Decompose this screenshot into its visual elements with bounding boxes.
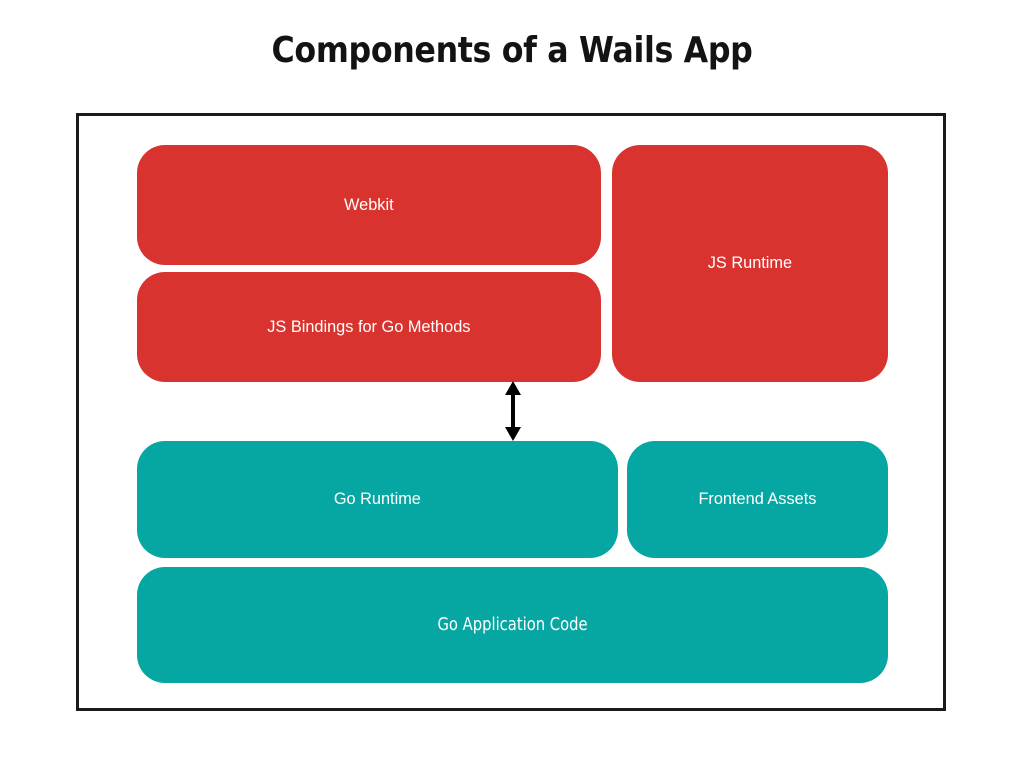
block-frontend-assets[interactable]: Frontend Assets bbox=[627, 441, 888, 558]
double-arrow-icon bbox=[499, 381, 527, 441]
double-arrow-svg bbox=[499, 381, 527, 441]
block-webkit[interactable]: Webkit bbox=[137, 145, 601, 265]
block-frontend-assets-label: Frontend Assets bbox=[699, 489, 817, 509]
block-go-runtime[interactable]: Go Runtime bbox=[137, 441, 618, 558]
block-go-runtime-label: Go Runtime bbox=[334, 489, 421, 509]
block-go-application-code-label: Go Application Code bbox=[437, 614, 587, 636]
block-js-bindings[interactable]: JS Bindings for Go Methods bbox=[137, 272, 601, 382]
block-webkit-label: Webkit bbox=[344, 195, 394, 215]
page-title: Components of a Wails App bbox=[61, 30, 962, 71]
block-js-bindings-label: JS Bindings for Go Methods bbox=[267, 317, 470, 337]
block-js-runtime[interactable]: JS Runtime bbox=[612, 145, 888, 382]
block-js-runtime-label: JS Runtime bbox=[708, 253, 792, 273]
slide-canvas: Components of a Wails App Webkit JS Bind… bbox=[0, 0, 1024, 768]
block-go-application-code[interactable]: Go Application Code bbox=[137, 567, 888, 683]
